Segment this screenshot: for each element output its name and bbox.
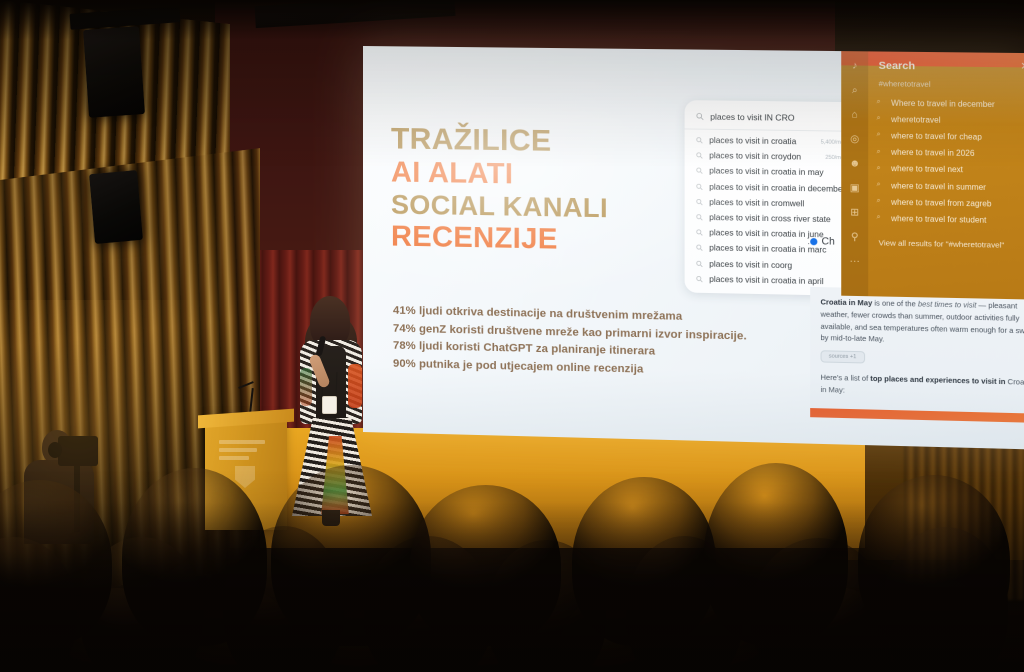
- audience-head: [122, 468, 266, 646]
- live-icon[interactable]: ▣: [848, 182, 861, 195]
- audience-head: [572, 477, 715, 646]
- tiktok-suggestion-label: where to travel next: [891, 164, 963, 174]
- audience-head: [704, 463, 848, 646]
- suggestion-label: places to visit in croatia in june: [709, 228, 823, 239]
- tiktok-suggestion-label: where to travel for student: [891, 214, 986, 225]
- upload-icon[interactable]: ⊞: [848, 206, 861, 219]
- tiktok-suggestion-label: where to travel from zagreb: [891, 197, 991, 208]
- presenter-pattern-right: [348, 364, 362, 408]
- search-icon: [696, 198, 703, 205]
- answer-text-a: is one of the: [872, 298, 918, 308]
- headline-line-3: SOCIAL KANALI: [391, 191, 695, 223]
- tiktok-tag-row[interactable]: #wheretotravel: [879, 79, 1024, 90]
- tiktok-search-panel: ♪⌕⌂◎☻▣⊞⚲⋯ Search ✕ #wheretotravel ⌕Where…: [841, 51, 1024, 300]
- answer2-bold: top places and experiences to visit in: [870, 374, 1005, 386]
- audience-head: [410, 485, 561, 646]
- suggestion-label: places to visit in croatia in december: [709, 182, 845, 193]
- suggestion-label: places to visit in croatia: [709, 136, 796, 146]
- search-icon: [696, 168, 703, 175]
- answer-italic: best times to visit: [918, 299, 977, 309]
- projection-screen: TRAŽILICE AI ALATI SOCIAL KANALI RECENZI…: [363, 46, 1024, 450]
- slide-headline: TRAŽILICE AI ALATI SOCIAL KANALI RECENZI…: [391, 124, 695, 261]
- conference-photo-scene: TRAŽILICE AI ALATI SOCIAL KANALI RECENZI…: [0, 0, 1024, 672]
- search-icon: [696, 137, 703, 144]
- audience-head: [858, 475, 1010, 646]
- search-icon: [696, 152, 703, 159]
- stat-line: 90% putnika je pod utjecajem online rece…: [393, 357, 748, 377]
- pa-speaker-lower: [89, 170, 143, 244]
- answer2-text-a: Here's a list of: [821, 373, 871, 383]
- suggestion-label: places to visit in croatia in marc: [709, 244, 826, 255]
- suggestion-label: places to visit in cromwell: [709, 198, 804, 209]
- stat-line: 78% ljudi koristi ChatGPT za planiranje …: [393, 340, 748, 360]
- search-icon: ⌕: [877, 181, 885, 189]
- stat-line: 41% ljudi otkriva destinacije na društve…: [393, 305, 748, 325]
- tiktok-view-all-link[interactable]: View all results for "#wheretotravel": [879, 238, 1005, 249]
- tiktok-suggestion-label: Where to travel in december: [891, 98, 995, 109]
- search-icon: [696, 112, 704, 120]
- tiktok-suggestion-item[interactable]: ⌕where to travel for student: [877, 210, 1024, 229]
- home-icon[interactable]: ⌂: [848, 108, 861, 121]
- search-icon: ⌕: [877, 165, 885, 173]
- friends-icon[interactable]: ☻: [848, 157, 861, 170]
- tiktok-sidebar-rail[interactable]: ♪⌕⌂◎☻▣⊞⚲⋯: [841, 51, 868, 296]
- tiktok-suggestion-label: where to travel in 2026: [891, 148, 974, 158]
- tiktok-panel-title: Search: [879, 60, 915, 73]
- headline-line-1: TRAŽILICE: [391, 124, 695, 159]
- chatgpt-chip[interactable]: Ch: [810, 236, 835, 248]
- search-icon[interactable]: ⌕: [848, 84, 861, 97]
- explore-icon[interactable]: ◎: [848, 133, 861, 146]
- suggestion-label: places to visit in croydon: [709, 151, 801, 162]
- chatgpt-answer-card: Croatia in May is one of the best times …: [810, 287, 1024, 423]
- answer-card-accent-bar: [810, 408, 1024, 423]
- search-icon: [696, 183, 703, 190]
- search-icon: [696, 275, 703, 282]
- search-icon: [696, 229, 703, 236]
- profile-icon[interactable]: ⚲: [848, 231, 861, 244]
- close-icon[interactable]: ✕: [1020, 61, 1024, 72]
- search-icon: [696, 214, 703, 221]
- search-icon: ⌕: [877, 214, 885, 222]
- search-icon: ⌕: [877, 99, 885, 107]
- search-icon: ⌕: [877, 115, 885, 123]
- suggestion-label: places to visit in coorg: [709, 259, 792, 270]
- chatgpt-toggle-icon: [810, 238, 817, 245]
- sources-chip[interactable]: sources +1: [821, 350, 865, 363]
- search-icon: ⌕: [877, 198, 885, 206]
- chatgpt-chip-label: Ch: [822, 236, 835, 247]
- audience-silhouettes: [0, 442, 1024, 672]
- suggestion-label: places to visit in croatia in april: [709, 275, 823, 286]
- tiktok-top-accent: [841, 51, 1024, 68]
- tiktok-suggestion-item[interactable]: ⌕Where to travel in december: [877, 94, 1024, 113]
- search-input-value: places to visit IN CRO: [710, 112, 794, 123]
- search-icon: ⌕: [877, 132, 885, 140]
- presenter-pattern-left: [300, 368, 312, 406]
- tiktok-suggestion-label: wheretotravel: [891, 115, 940, 125]
- audience-head: [271, 465, 431, 646]
- search-icon: ⌕: [877, 148, 885, 156]
- more-icon[interactable]: ⋯: [848, 255, 861, 269]
- tiktok-logo-icon[interactable]: ♪: [848, 59, 861, 72]
- chatgpt-paragraph-2: Here's a list of top places and experien…: [821, 372, 1024, 401]
- audience-head: [0, 480, 112, 646]
- tiktok-suggestion-label: where to travel for cheap: [891, 131, 982, 141]
- tiktok-suggestion-label: where to travel in summer: [891, 181, 986, 192]
- stat-line: 74% genZ koristi društvene mreže kao pri…: [393, 322, 748, 342]
- search-icon: [696, 245, 703, 252]
- presenter-name-badge: [322, 396, 337, 414]
- suggestion-label: places to visit in croatia in may: [709, 167, 823, 178]
- headline-line-4: RECENZIJE: [391, 222, 695, 257]
- ceiling-shadow: [0, 0, 1024, 40]
- slide-stats: 41% ljudi otkriva destinacije na društve…: [393, 305, 748, 384]
- headline-line-2: AI ALATI: [391, 158, 695, 192]
- chatgpt-paragraph-1: Croatia in May is one of the best times …: [821, 296, 1024, 349]
- suggestion-label: places to visit in cross river state: [709, 213, 831, 224]
- answer-bold-lead: Croatia in May: [821, 297, 873, 307]
- search-icon: [696, 260, 703, 267]
- tiktok-tag-label: #wheretotravel: [879, 79, 931, 89]
